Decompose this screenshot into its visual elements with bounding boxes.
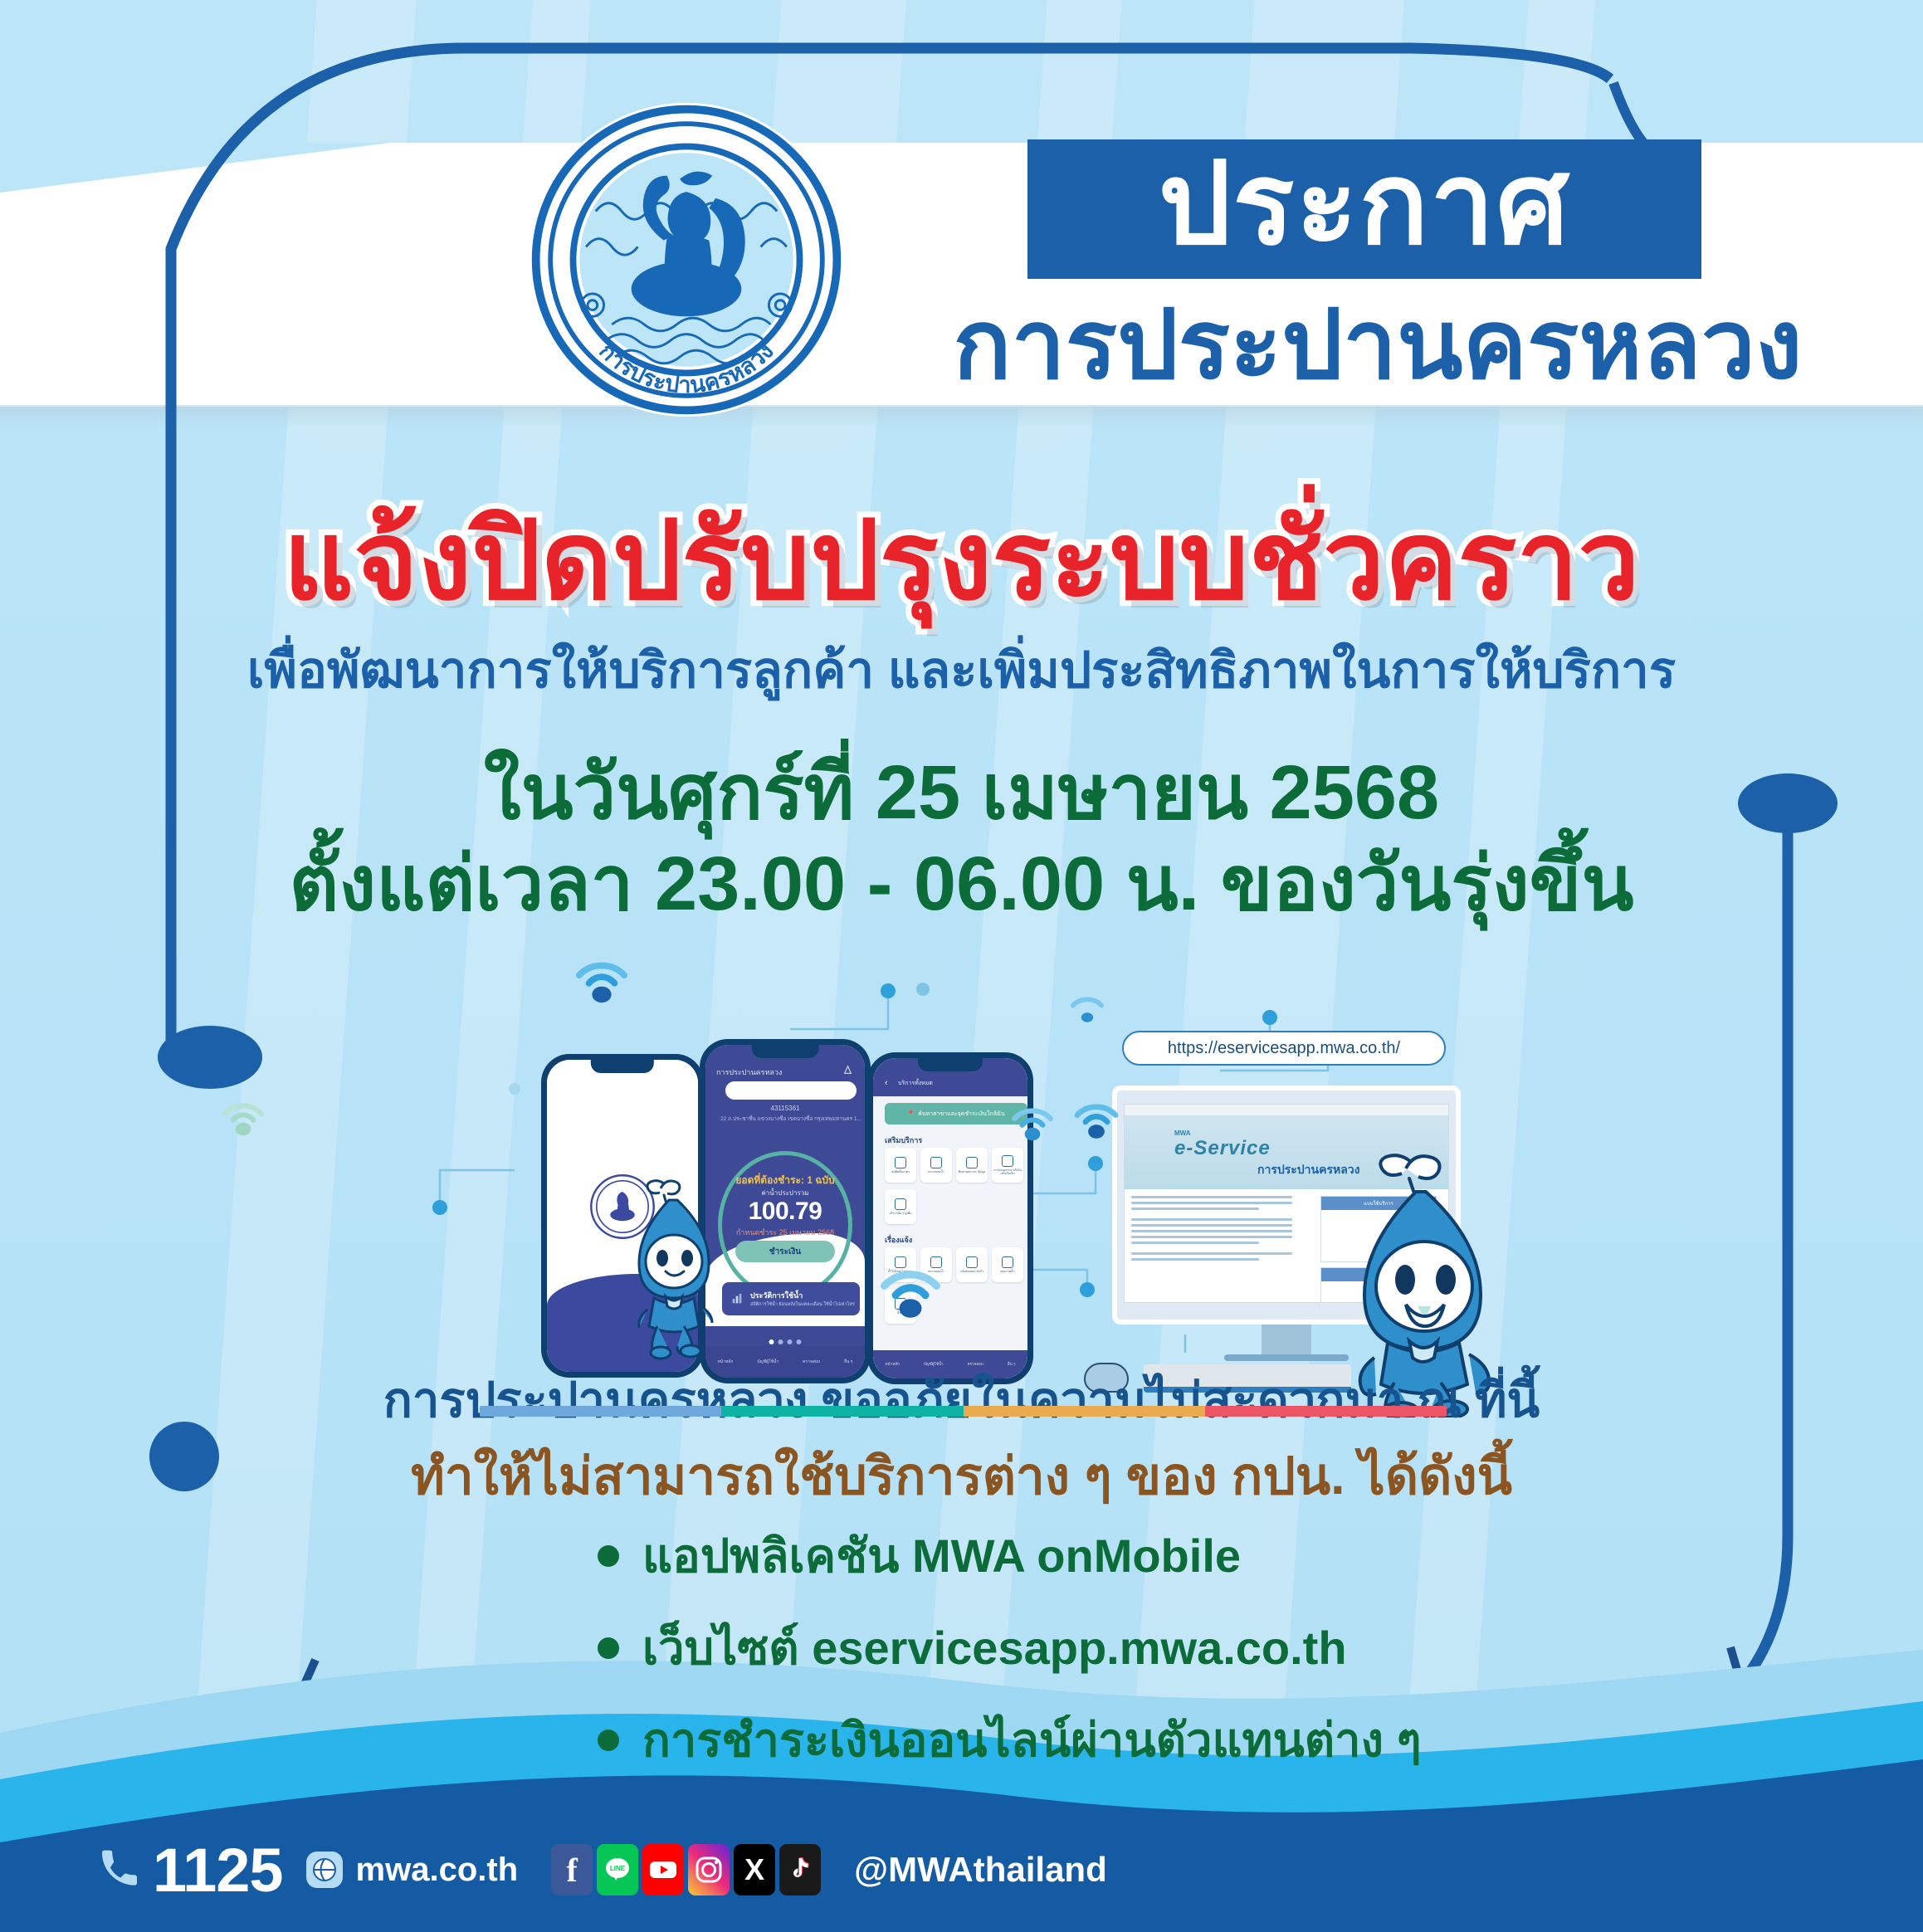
youtube-icon[interactable]: [642, 1844, 684, 1895]
search-pill[interactable]: [725, 1081, 857, 1100]
service-tile[interactable]: ขอติดตั้งมาตร: [885, 1148, 916, 1183]
status-icon: [966, 1157, 978, 1168]
wifi-icon: [217, 1095, 269, 1137]
bar-segment-orange: [964, 1406, 1205, 1417]
bullet-dot-icon: [598, 1730, 619, 1751]
site-logo: MWA e-Service: [1174, 1129, 1271, 1160]
pay-button[interactable]: ชำระเงิน: [735, 1241, 835, 1262]
phone-handset-icon: [98, 1847, 143, 1892]
bar-segment-blue: [480, 1406, 721, 1417]
phone-number: 1125: [153, 1835, 283, 1905]
wifi-icon: [1069, 1095, 1124, 1140]
service-tile[interactable]: คุณภาพน้ำ: [992, 1247, 1023, 1282]
apology-line: การประปานครหลวง ขออภัยในความไม่สะดวกมา ณ…: [0, 1361, 1923, 1438]
service-tile[interactable]: ตรวจสอบน้ำ: [920, 1148, 952, 1183]
tile-label: แจ้งท่อแตก/ ท่อรั่ว: [960, 1270, 983, 1273]
bullet-dot-icon: [598, 1545, 619, 1567]
service-tile[interactable]: การขอเอกสาร หรือใบเสร็จรับเงิน: [992, 1148, 1023, 1183]
date-line-2: ตั้งแต่เวลา 23.00 - 06.00 น. ของวันรุ่งข…: [0, 822, 1923, 944]
tile-label: บริการอื่น ๆ ดูเพิ่ม: [889, 1212, 911, 1215]
site-logo-small: MWA: [1174, 1129, 1271, 1137]
organization-name: การประปานครหลวง: [880, 286, 1876, 402]
wifi-icon: [1007, 1100, 1058, 1142]
apology-text: การประปานครหลวง ขออภัยในความไม่สะดวกมา ณ…: [383, 1373, 1540, 1427]
app-title: การประปานครหลวง: [716, 1066, 782, 1078]
service-grid-1[interactable]: ขอติดตั้งมาตร ตรวจสอบน้ำ ติดตามสถานะ ข้อ…: [885, 1148, 1023, 1183]
tiktok-icon[interactable]: [779, 1844, 821, 1895]
globe-icon: [305, 1850, 344, 1890]
announcement-badge: ประกาศ: [1027, 139, 1701, 279]
tile-label: การขอเอกสาร หรือใบเสร็จรับเงิน: [992, 1168, 1023, 1176]
bar-segment-red: [1205, 1406, 1447, 1417]
main-headline-text: แจ้งปิดปรับปรุงระบบชั่วคราว: [283, 500, 1640, 622]
footer-contact-bar: 1125 mwa.co.th f LINE X: [0, 1808, 1923, 1932]
account-address: 22 ถ.ประชาชื่น แขวงบางซื่อ เขตบางซื่อ กร…: [714, 1115, 865, 1123]
announcement-poster: การประปานครหลวง ประกาศ การประปานครหลวง แ…: [0, 0, 1923, 1932]
service-tile[interactable]: บริการอื่น ๆ ดูเพิ่ม: [885, 1189, 916, 1224]
services-intro: ทำให้ไม่สามารถใช้บริการต่าง ๆ ของ กปน. ไ…: [0, 1436, 1923, 1517]
wifi-icon: [873, 1260, 948, 1320]
location-pin-icon: 📍: [907, 1110, 915, 1117]
url-text: https://eservicesapp.mwa.co.th/: [1168, 1039, 1400, 1058]
subtitle: เพื่อพัฒนาการให้บริการลูกค้า และเพิ่มประ…: [0, 631, 1923, 710]
url-bubble: https://eservicesapp.mwa.co.th/: [1122, 1031, 1446, 1066]
facebook-icon[interactable]: f: [551, 1844, 593, 1895]
affected-services-list: แอปพลิเคชัน MWA onMobile เว็บไซต์ eservi…: [598, 1519, 1422, 1795]
instagram-icon[interactable]: [688, 1844, 730, 1895]
service-grid-1-more[interactable]: บริการอื่น ๆ ดูเพิ่ม: [885, 1189, 916, 1224]
section-title-1: เสริมบริการ: [885, 1134, 922, 1146]
meter-icon: [895, 1157, 906, 1168]
tile-label: ขอติดตั้งมาตร: [891, 1170, 910, 1173]
more-dots-icon: [895, 1198, 906, 1210]
tile-label: ตรวจสอบน้ำ: [928, 1170, 944, 1173]
card-title: ประวัติการใช้น้ำ: [750, 1290, 855, 1301]
card-subtitle: สถิติการใช้น้ำ ย้อนหลังในแต่ละเดือน ใช้น…: [750, 1301, 855, 1308]
bar-segment-teal: [721, 1406, 963, 1417]
tile-label: ติดตามสถานะ ข้อมูล: [959, 1170, 985, 1173]
social-handle: @MWAthailand: [854, 1850, 1107, 1890]
bell-icon: [842, 1065, 853, 1076]
color-divider-bar: [480, 1406, 1447, 1417]
list-item-label: เว็บไซต์ eservicesapp.mwa.co.th: [642, 1611, 1347, 1685]
list-item-label: การชำระเงินออนไลน์ผ่านตัวแทนต่าง ๆ: [642, 1703, 1422, 1777]
document-icon: [1002, 1155, 1013, 1167]
announcement-badge-label: ประกาศ: [1159, 147, 1570, 261]
devices-illustration: การประปานครหลวง 43115361 22 ถ.ประชาชื่น …: [0, 938, 1923, 1353]
site-logo-text: e-Service: [1174, 1137, 1271, 1159]
pipe-leak-icon: [966, 1256, 978, 1268]
main-headline: แจ้งปิดปรับปรุงระบบชั่วคราว: [0, 498, 1923, 624]
phone-contact[interactable]: 1125: [98, 1835, 283, 1905]
water-drop-mascot: [614, 1170, 739, 1361]
subtitle-text: เพื่อพัฒนาการให้บริการลูกค้า และเพิ่มประ…: [247, 642, 1676, 698]
list-item-label: แอปพลิเคชัน MWA onMobile: [642, 1519, 1241, 1593]
wifi-icon: [1063, 988, 1111, 1026]
phone-notch: [591, 1060, 654, 1073]
line-icon[interactable]: LINE: [597, 1844, 638, 1895]
website-url: mwa.co.th: [356, 1851, 519, 1889]
water-quality-icon: [1002, 1256, 1013, 1268]
find-branch-label: ค้นหาสาขาและจุดชำระเงินใกล้ฉัน: [918, 1110, 1004, 1119]
date-line-2-text: ตั้งแต่เวลา 23.00 - 06.00 น. ของวันรุ่งข…: [290, 842, 1634, 926]
services-header-title: บริการทั้งหมด: [898, 1079, 933, 1088]
social-icons[interactable]: f LINE X: [551, 1844, 821, 1895]
carousel-dots[interactable]: [769, 1339, 802, 1344]
back-arrow-icon[interactable]: ‹: [885, 1078, 888, 1088]
phone-notch: [918, 1058, 983, 1071]
list-item: เว็บไซต์ eservicesapp.mwa.co.th: [598, 1611, 1422, 1685]
browser-toolbar: [1125, 1105, 1448, 1116]
svg-text:LINE: LINE: [610, 1865, 626, 1872]
phone-notch: [752, 1045, 819, 1058]
website-contact[interactable]: mwa.co.th: [305, 1850, 519, 1890]
water-check-icon: [930, 1157, 942, 1168]
service-tile[interactable]: แจ้งท่อแตก/ ท่อรั่ว: [956, 1247, 988, 1282]
bullet-dot-icon: [598, 1637, 619, 1659]
usage-history-card[interactable]: ประวัติการใช้น้ำ สถิติการใช้น้ำ ย้อนหลัง…: [722, 1282, 860, 1315]
list-item: การชำระเงินออนไลน์ผ่านตัวแทนต่าง ๆ: [598, 1703, 1422, 1777]
account-number: 43115361: [705, 1105, 865, 1112]
x-twitter-icon[interactable]: X: [734, 1844, 775, 1895]
mwa-seal-icon: การประปานครหลวง: [525, 98, 848, 422]
organization-name-label: การประปานครหลวง: [953, 296, 1802, 393]
tile-label: คุณภาพน้ำ: [1001, 1270, 1015, 1273]
services-intro-text: ทำให้ไม่สามารถใช้บริการต่าง ๆ ของ กปน. ไ…: [411, 1448, 1512, 1505]
service-tile[interactable]: ติดตามสถานะ ข้อมูล: [956, 1148, 988, 1183]
wifi-icon: [569, 953, 634, 1004]
list-item: แอปพลิเคชัน MWA onMobile: [598, 1519, 1422, 1593]
section-title-2: เรื่องแจ้ง: [885, 1234, 912, 1246]
